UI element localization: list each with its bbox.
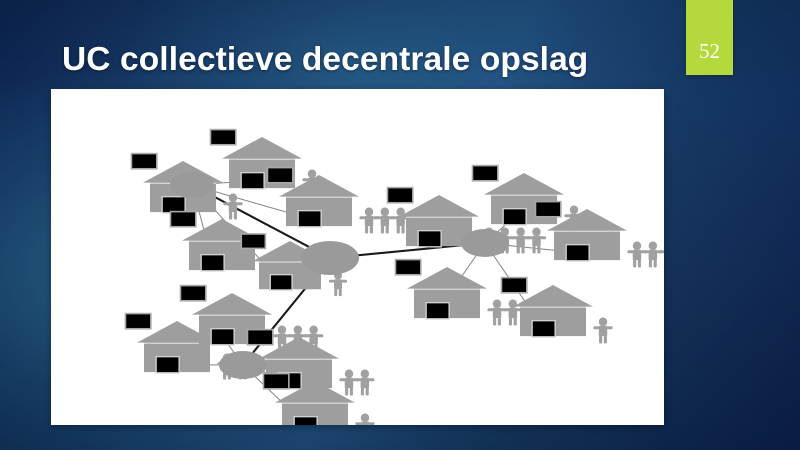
person-torso [516, 236, 524, 246]
person-arm-left [503, 308, 509, 311]
diagram-panel [51, 89, 664, 425]
house-eaveline [406, 217, 472, 218]
battery-box-fill [264, 374, 288, 388]
house-door [157, 357, 179, 372]
battery-box [387, 187, 414, 204]
person-arm-left [511, 236, 517, 239]
person-icon [355, 369, 374, 395]
storage-hub-hub-center [301, 241, 359, 275]
person-leg-right [234, 212, 237, 220]
house-door [567, 245, 589, 260]
battery-box [210, 129, 237, 146]
house-door [163, 197, 185, 212]
battery-box-fill [126, 314, 150, 328]
battery-box [263, 373, 290, 390]
person-arm-right [607, 326, 613, 329]
person-head [509, 299, 517, 307]
person-arm-right [342, 280, 347, 283]
battery-box-fill [242, 235, 264, 248]
battery-box-fill [211, 130, 235, 144]
house-door [299, 211, 321, 226]
person-torso [365, 216, 373, 226]
person-icon [593, 317, 612, 343]
person-leg-right [366, 388, 369, 396]
house-door [202, 255, 224, 270]
house-eaveline [266, 359, 332, 360]
house-door [242, 173, 264, 188]
house-door [533, 321, 555, 336]
person-leg-right [514, 318, 517, 326]
slide-number-badge: 52 [686, 0, 733, 75]
person-head [345, 369, 353, 377]
person-icon [659, 241, 664, 267]
person-leg-left [345, 388, 348, 396]
storage-hub-hub-east [461, 229, 509, 257]
battery-box [501, 277, 528, 294]
person-icon [355, 413, 374, 425]
person-torso [334, 279, 342, 289]
house-door [212, 329, 234, 344]
person-leg-right [498, 318, 501, 326]
person-leg-left [334, 289, 337, 296]
house-door [271, 275, 291, 289]
person-icon [339, 369, 358, 395]
storage-hub-hub-southwest [219, 351, 267, 379]
battery-box-fill [268, 168, 292, 182]
person-head [633, 241, 641, 249]
person-head [365, 207, 373, 215]
person-arm-left [659, 250, 664, 253]
battery-box [472, 165, 499, 182]
person-torso [649, 250, 657, 260]
person-torso [361, 422, 369, 425]
person-head [381, 207, 389, 215]
person-icon [643, 241, 662, 267]
person-arm-left [339, 378, 345, 381]
person-icon [511, 227, 530, 253]
person-leg-right [386, 226, 389, 234]
battery-box-fill [248, 330, 272, 344]
person-leg-left [397, 226, 400, 234]
person-arm-right [369, 422, 375, 425]
person-arm-right [369, 378, 375, 381]
person-leg-left [649, 260, 652, 268]
battery-box-fill [171, 212, 195, 226]
person-icon [359, 207, 378, 233]
person-arm-left [643, 250, 649, 253]
person-leg-left [361, 388, 364, 396]
person-head [294, 325, 302, 333]
battery-box [170, 211, 197, 228]
person-leg-right [654, 260, 657, 268]
person-torso [278, 334, 286, 344]
person-head [649, 241, 657, 249]
person-arm-left [391, 216, 397, 219]
person-arm-left [355, 422, 361, 425]
house-door [419, 231, 441, 246]
person-head [532, 227, 540, 235]
person-arm-left [302, 178, 308, 181]
person-head [308, 169, 316, 177]
person-arm-left [223, 202, 229, 205]
battery-box-fill [502, 278, 526, 292]
person-torso [509, 308, 517, 318]
house-eaveline [282, 403, 348, 404]
house-eaveline [554, 231, 620, 232]
person-torso [345, 378, 353, 388]
person-arm-left [304, 334, 310, 337]
person-head [493, 299, 501, 307]
house-unit [535, 201, 664, 268]
person-arm-left [487, 308, 493, 311]
person-arm-left [375, 216, 381, 219]
person-icon [487, 299, 506, 325]
person-arm-left [329, 280, 334, 283]
battery-box-fill [181, 286, 205, 300]
battery-box-fill [536, 202, 560, 216]
person-leg-left [599, 336, 602, 344]
battery-box [535, 201, 562, 218]
person-leg-left [533, 246, 536, 254]
house-eaveline [491, 195, 557, 196]
person-torso [532, 236, 540, 246]
person-icon [223, 193, 242, 219]
person-arm-left [593, 326, 599, 329]
person-arm-right [540, 236, 546, 239]
house-layer [125, 129, 664, 425]
person-torso [493, 308, 501, 318]
battery-box [240, 233, 266, 249]
person-head [229, 193, 237, 201]
person-arm-left [527, 236, 533, 239]
person-torso [229, 202, 237, 212]
house-eaveline [520, 307, 586, 308]
battery-box [395, 259, 422, 276]
person-icon [329, 272, 347, 297]
network-diagram [51, 89, 664, 425]
person-torso [309, 334, 317, 344]
slide-number: 52 [686, 39, 733, 64]
house-eaveline [286, 197, 352, 198]
house-eaveline [414, 289, 480, 290]
person-leg-right [339, 289, 342, 296]
person-arm-left [627, 250, 633, 253]
house-eaveline [199, 315, 265, 316]
person-torso [361, 378, 369, 388]
battery-box-fill [388, 188, 412, 202]
person-icon [375, 207, 394, 233]
person-torso [599, 326, 607, 336]
person-leg-right [521, 246, 524, 254]
person-arm-left [564, 214, 570, 217]
person-leg-left [365, 226, 368, 234]
battery-box-fill [132, 154, 156, 168]
house-door [295, 417, 317, 425]
person-arm-right [318, 334, 324, 337]
battery-box [267, 167, 294, 184]
person-leg-right [350, 388, 353, 396]
person-icon [627, 241, 646, 267]
storage-hub-hub-northwest [170, 172, 214, 198]
person-leg-left [229, 212, 232, 220]
person-head [599, 317, 607, 325]
person-torso [396, 216, 404, 226]
person-head [309, 325, 317, 333]
person-leg-right [638, 260, 641, 268]
person-leg-left [381, 226, 384, 234]
person-torso [633, 250, 641, 260]
person-torso [381, 216, 389, 226]
house-door [427, 303, 449, 318]
person-leg-left [509, 318, 512, 326]
person-arm-right [237, 202, 243, 205]
person-leg-right [370, 226, 373, 234]
battery-box [125, 313, 152, 330]
house-eaveline [229, 159, 295, 160]
person-head [516, 227, 524, 235]
person-arm-left [288, 334, 294, 337]
battery-box [180, 285, 207, 302]
battery-box [131, 153, 158, 170]
person-leg-right [537, 246, 540, 254]
battery-box [247, 329, 274, 346]
person-head [278, 325, 286, 333]
person-leg-right [401, 226, 404, 234]
page-title: UC collectieve decentrale opslag [62, 37, 662, 83]
person-leg-left [493, 318, 496, 326]
person-arm-left [355, 378, 361, 381]
person-head [570, 205, 578, 213]
person-head [361, 369, 369, 377]
person-arm-left [359, 216, 365, 219]
person-leg-left [633, 260, 636, 268]
slide: UC collectieve decentrale opslag 52 [0, 0, 800, 450]
person-leg-right [604, 336, 607, 344]
person-head [361, 413, 369, 421]
battery-box-fill [396, 260, 420, 274]
person-leg-left [517, 246, 520, 254]
battery-box-fill [473, 166, 497, 180]
house-door [504, 209, 526, 224]
